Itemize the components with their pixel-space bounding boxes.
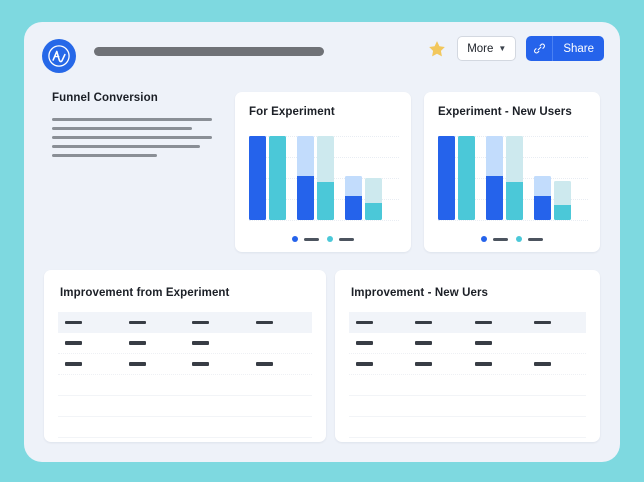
table-cell [468,341,527,345]
chart-bars [249,136,399,220]
bar-segment-remainder [317,136,334,182]
table-cell [122,321,186,325]
table-cell [58,341,122,345]
bar[interactable] [345,176,362,220]
bar-group[interactable] [345,136,382,220]
bar-chart-plot [249,136,399,220]
table-row[interactable] [349,417,586,438]
share-button[interactable]: Share [553,36,604,61]
funnel-placeholder-lines [52,118,227,157]
cell-value-placeholder [192,321,209,325]
cell-value-placeholder [475,341,492,345]
cell-value-placeholder [356,362,373,366]
star-icon[interactable] [427,39,447,59]
legend-item[interactable] [327,236,354,242]
bar[interactable] [297,136,314,220]
cell-value-placeholder [475,362,492,366]
table-cell [527,321,586,325]
bar[interactable] [458,136,475,220]
bar[interactable] [269,136,286,220]
table-cell [185,362,249,366]
cell-value-placeholder [534,362,551,366]
table-header-row[interactable] [349,312,586,333]
chart-gridline [249,220,399,221]
cell-value-placeholder [65,362,82,366]
cell-value-placeholder [415,321,432,325]
table-cell [349,321,408,325]
cell-value-placeholder [415,341,432,345]
chart-card-title: For Experiment [249,106,335,118]
table-row[interactable] [58,333,312,354]
bar-chart-plot [438,136,588,220]
legend-label-placeholder [339,238,354,241]
funnel-placeholder-line [52,127,192,130]
bar-segment-remainder [506,136,523,182]
bar-group[interactable] [297,136,334,220]
chart-card-experiment-new-users[interactable]: Experiment - New Users [424,92,600,252]
cell-value-placeholder [192,341,209,345]
table-row[interactable] [58,396,312,417]
table-cell [468,362,527,366]
screenshot-root: More ▼ Share [0,0,644,482]
table-row[interactable] [349,333,586,354]
table-cell [249,321,313,325]
table-cell [249,362,313,366]
table-body [58,312,312,438]
cell-value-placeholder [129,362,146,366]
chart-legend [235,236,411,242]
bar-segment-remainder [486,136,503,176]
app-window: More ▼ Share [24,22,620,462]
bar-segment-remainder [365,178,382,203]
table-cell [349,362,408,366]
legend-label-placeholder [493,238,508,241]
bar-segment-remainder [534,176,551,196]
table-cell [122,341,186,345]
bar[interactable] [365,178,382,220]
bar-segment-value [506,182,523,220]
bar-segment-remainder [297,136,314,176]
top-toolbar: More ▼ Share [24,22,620,82]
table-cell [185,341,249,345]
legend-dot-icon [516,236,522,242]
chart-legend [424,236,600,242]
table-row[interactable] [58,375,312,396]
table-cell [349,341,408,345]
bar[interactable] [506,136,523,220]
funnel-conversion-block: Funnel Conversion [52,92,227,163]
bar[interactable] [554,181,571,220]
table-card-title: Improvement - New Uers [351,287,488,299]
bar-segment-value [534,196,551,220]
bar-segment-value [365,203,382,220]
table-body [349,312,586,438]
cell-value-placeholder [534,321,551,325]
legend-dot-icon [327,236,333,242]
chart-card-for-experiment[interactable]: For Experiment [235,92,411,252]
bar-group[interactable] [438,136,475,220]
cell-value-placeholder [129,321,146,325]
bar-segment-value [269,136,286,220]
more-button-label: More [467,43,493,55]
bar-segment-value [438,136,455,220]
table-row[interactable] [349,375,586,396]
bar-segment-value [249,136,266,220]
dashboard-title-placeholder[interactable] [94,47,324,56]
table-cell [185,321,249,325]
cell-value-placeholder [192,362,209,366]
table-header-row[interactable] [58,312,312,333]
bar-segment-value [554,205,571,220]
table-card-improvement-new-users[interactable]: Improvement - New Uers [335,270,600,442]
amplitude-logo-icon[interactable] [42,39,76,73]
cell-value-placeholder [415,362,432,366]
table-card-improvement-from-experiment[interactable]: Improvement from Experiment [44,270,326,442]
cell-value-placeholder [65,321,82,325]
cell-value-placeholder [475,321,492,325]
bar-segment-value [345,196,362,220]
bar[interactable] [534,176,551,220]
table-card-title: Improvement from Experiment [60,287,230,299]
bar-group[interactable] [249,136,286,220]
table-cell [468,321,527,325]
bar-segment-value [458,136,475,220]
table-cell [58,321,122,325]
legend-item[interactable] [292,236,319,242]
funnel-conversion-title: Funnel Conversion [52,92,227,104]
bar[interactable] [317,136,334,220]
table-row[interactable] [58,417,312,438]
bar-group[interactable] [486,136,523,220]
cell-value-placeholder [129,341,146,345]
table-cell [408,341,467,345]
legend-dot-icon [481,236,487,242]
table-cell [408,362,467,366]
legend-label-placeholder [528,238,543,241]
chart-gridline [438,220,588,221]
funnel-placeholder-line [52,145,200,148]
funnel-placeholder-line [52,118,212,121]
link-icon[interactable] [526,36,553,61]
cell-value-placeholder [65,341,82,345]
more-button[interactable]: More ▼ [457,36,516,61]
toolbar-actions: More ▼ Share [427,36,604,61]
bar[interactable] [486,136,503,220]
funnel-placeholder-line [52,136,212,139]
share-button-group: Share [526,36,604,61]
bar[interactable] [249,136,266,220]
bar[interactable] [438,136,455,220]
share-button-label: Share [563,43,594,55]
funnel-placeholder-line [52,154,157,157]
cell-value-placeholder [356,341,373,345]
bar-segment-remainder [554,181,571,205]
legend-dot-icon [292,236,298,242]
cell-value-placeholder [256,362,273,366]
table-cell [408,321,467,325]
bar-segment-value [297,176,314,220]
table-row[interactable] [349,396,586,417]
table-cell [122,362,186,366]
table-cell [527,362,586,366]
chevron-down-icon: ▼ [498,45,506,53]
table-row[interactable] [349,354,586,375]
cell-value-placeholder [256,321,273,325]
chart-bars [438,136,588,220]
bar-group[interactable] [534,136,571,220]
legend-item[interactable] [481,236,508,242]
table-cell [58,362,122,366]
bar-segment-value [317,182,334,220]
legend-label-placeholder [304,238,319,241]
bar-segment-remainder [345,176,362,196]
chart-card-title: Experiment - New Users [438,106,572,118]
table-row[interactable] [58,354,312,375]
legend-item[interactable] [516,236,543,242]
bar-segment-value [486,176,503,220]
cell-value-placeholder [356,321,373,325]
